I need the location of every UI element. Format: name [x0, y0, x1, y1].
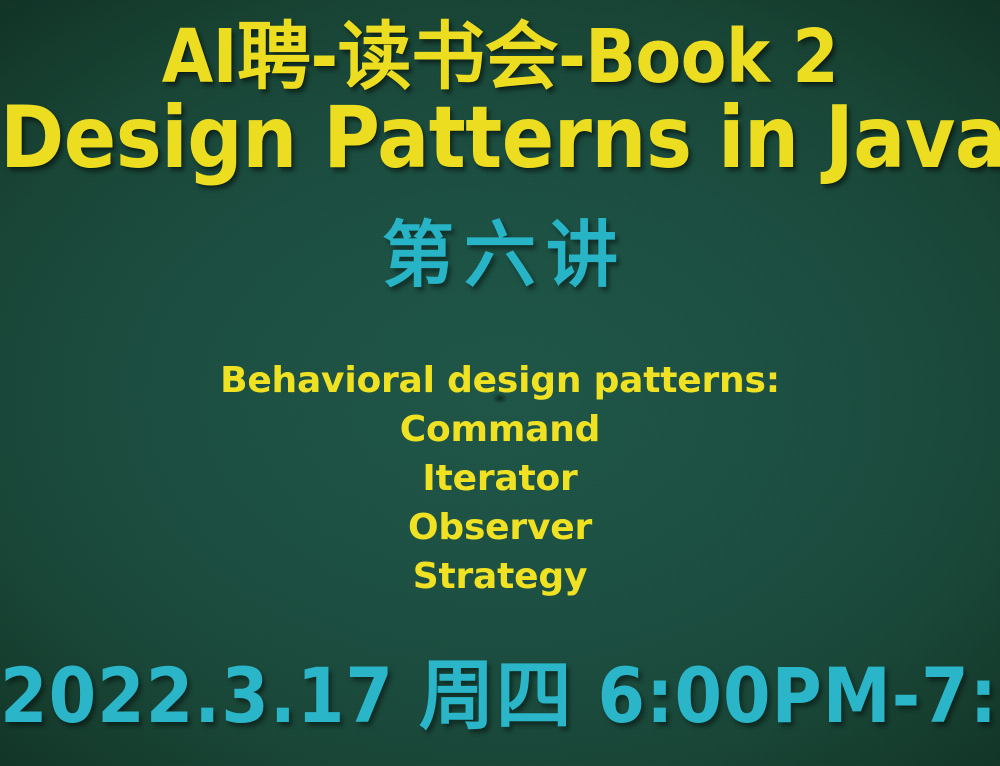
schedule-datetime: 2022.3.17 周四 6:00PM-7:00PM	[0, 648, 1000, 743]
presentation-slide: AI聘-读书会-Book 2 Design Patterns in Java 第…	[0, 0, 1000, 766]
pattern-item-strategy: Strategy	[0, 552, 1000, 601]
headline-block: AI聘-读书会-Book 2 Design Patterns in Java	[0, 16, 1000, 183]
headline-line-2: Design Patterns in Java	[0, 95, 1000, 183]
headline-line-1: AI聘-读书会-Book 2	[0, 16, 1000, 99]
pattern-item-iterator: Iterator	[0, 454, 1000, 503]
pattern-item-command: Command	[0, 405, 1000, 454]
session-label: 第六讲	[0, 216, 1000, 295]
body-heading: Behavioral design patterns:	[0, 356, 1000, 405]
pattern-item-observer: Observer	[0, 503, 1000, 552]
body-block: Behavioral design patterns: Command Iter…	[0, 356, 1000, 601]
